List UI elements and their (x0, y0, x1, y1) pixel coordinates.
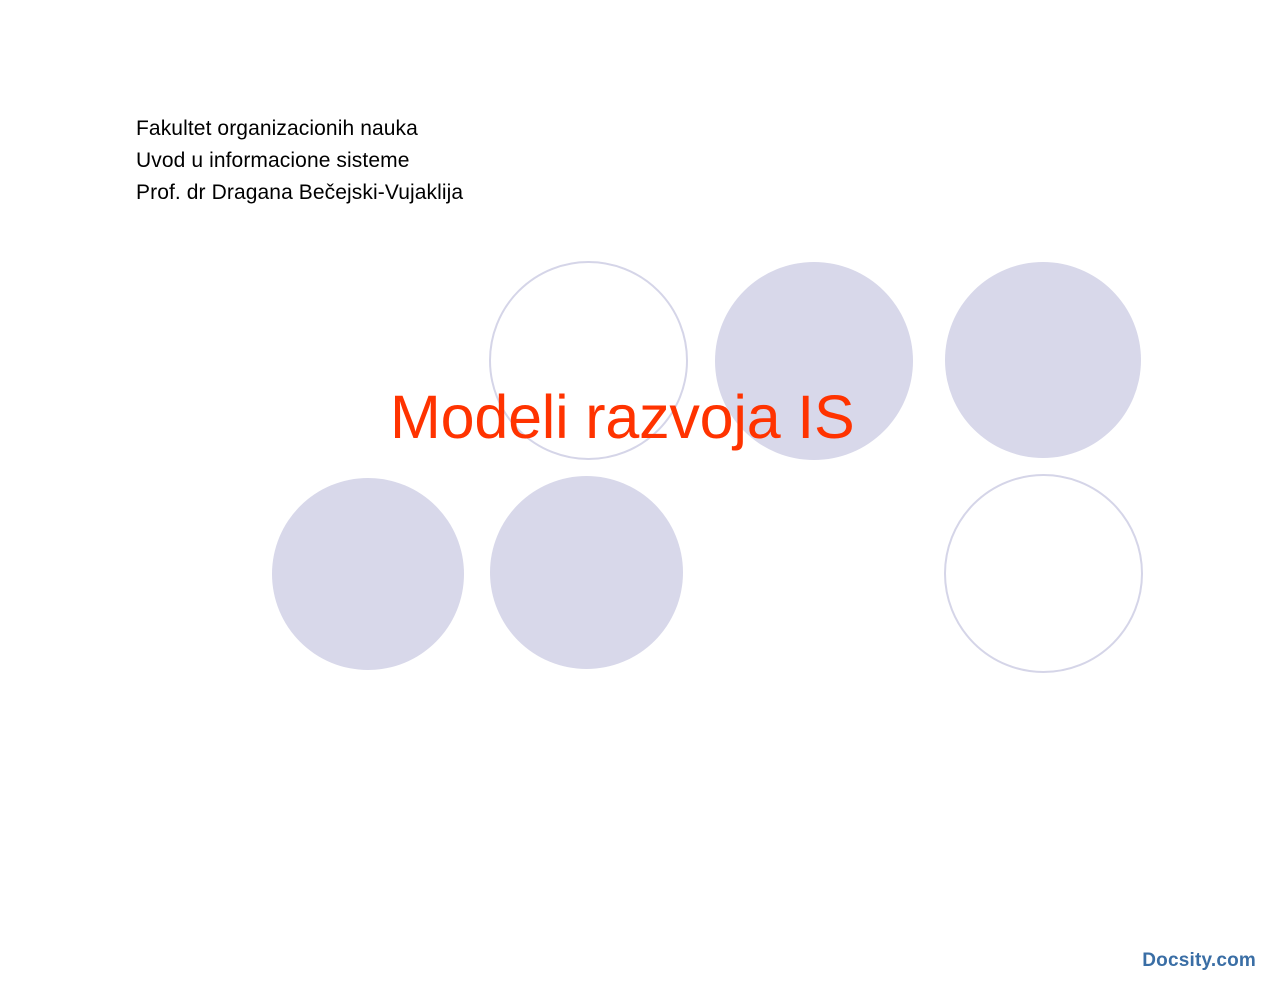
header-line-course: Uvod u informacione sisteme (136, 145, 463, 177)
circle-top-3-filled (945, 262, 1141, 458)
circle-bottom-3-outlined (944, 474, 1143, 673)
header-line-institution: Fakultet organizacionih nauka (136, 113, 463, 145)
slide-header-block: Fakultet organizacionih nauka Uvod u inf… (136, 113, 463, 209)
circle-bottom-1-filled (272, 478, 464, 670)
slide-canvas: Fakultet organizacionih nauka Uvod u inf… (0, 0, 1280, 989)
slide-title: Modeli razvoja IS (390, 384, 854, 450)
docsity-watermark: Docsity.com (1142, 950, 1256, 972)
circle-bottom-2-filled (490, 476, 683, 669)
header-line-lecturer: Prof. dr Dragana Bečejski-Vujaklija (136, 177, 463, 209)
